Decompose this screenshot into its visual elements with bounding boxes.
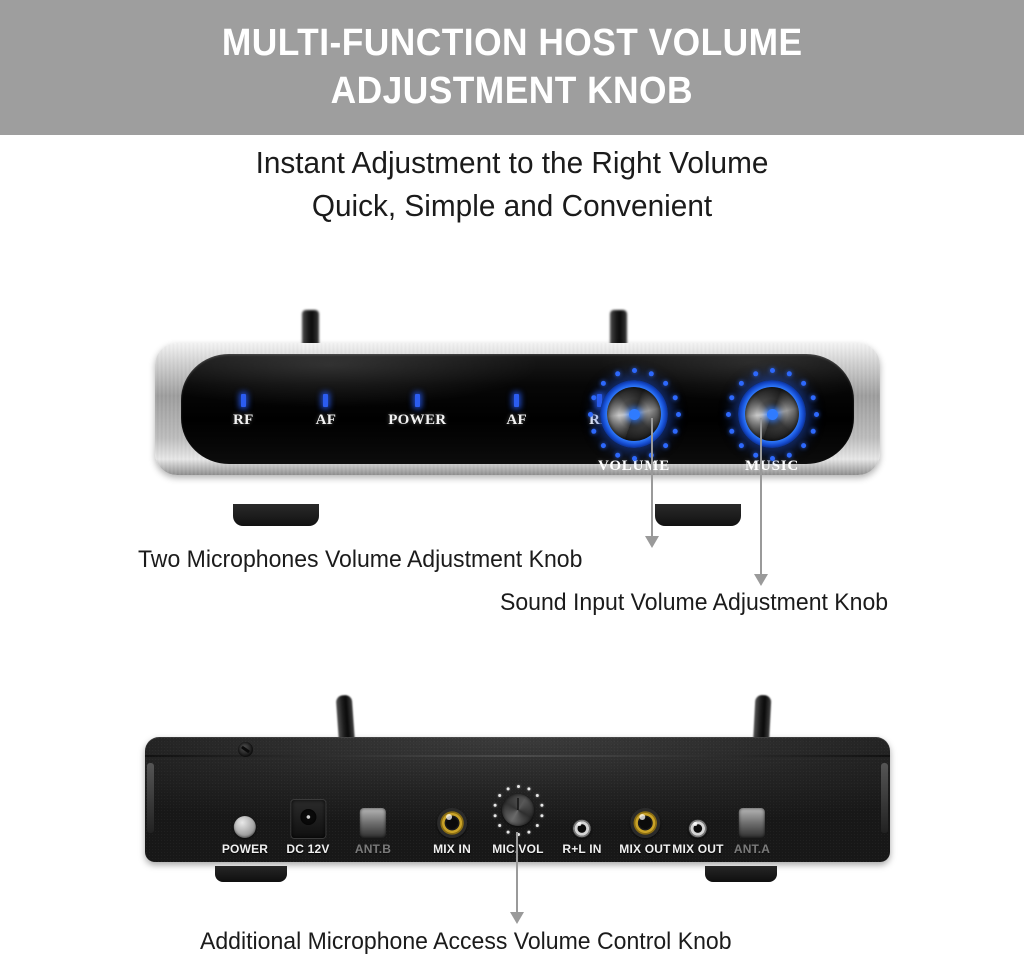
rear-port-label: ANT.B — [355, 842, 391, 856]
rear-foot-left — [215, 866, 287, 882]
rear-port-ant-b-2[interactable]: ANT.B — [355, 808, 391, 856]
callout-arrow-volume — [645, 536, 659, 548]
rear-foot-right — [705, 866, 777, 882]
rear-port-label: MIX IN — [433, 842, 471, 856]
rear-port-ant-a-8[interactable]: ANT.A — [734, 808, 770, 856]
rear-port-mix-in-3[interactable]: MIX IN — [433, 808, 471, 856]
knob-body — [502, 794, 534, 826]
callout-line-music — [760, 418, 762, 576]
mic-volume-knob-icon — [490, 782, 546, 838]
rear-port-power-0[interactable]: POWER — [222, 816, 268, 856]
led-indicator-af-3: AF — [506, 394, 527, 429]
led-indicator-rf-0: RF — [233, 394, 254, 429]
rear-port-label: POWER — [222, 842, 268, 856]
led-light-icon — [415, 394, 420, 407]
front-foot-right — [655, 504, 741, 526]
rear-port-mix-out-7[interactable]: MIX OUT — [672, 819, 723, 856]
callout-arrow-micvol — [510, 912, 524, 924]
knob-dot-ring-icon — [724, 366, 820, 462]
subtitle-line-1: Instant Adjustment to the Right Volume — [20, 142, 1003, 185]
header-banner: MULTI-FUNCTION HOST VOLUME ADJUSTMENT KN… — [0, 0, 1024, 135]
rear-port-label: DC 12V — [286, 842, 329, 856]
led-light-icon — [514, 394, 519, 407]
antenna-socket-icon — [739, 808, 765, 838]
led-indicator-power-2: POWER — [388, 394, 446, 429]
knob-volume[interactable]: VOLUME — [580, 366, 688, 475]
callout-line-volume — [651, 418, 653, 538]
audio-jack-silver-icon — [689, 819, 708, 838]
front-panel-device: RFAFPOWERAFRF VOLUMEMUSIC — [155, 305, 880, 510]
rear-port-mic-vol-4[interactable]: MIC.VOL — [490, 782, 546, 856]
led-label: RF — [233, 412, 254, 429]
banner-title-line-1: MULTI-FUNCTION HOST VOLUME — [222, 20, 803, 68]
knob-center-dot-icon — [767, 409, 778, 420]
audio-jack-gold-icon — [437, 808, 467, 838]
banner-title-line-2: ADJUSTMENT KNOB — [331, 68, 693, 116]
audio-jack-gold-icon — [630, 808, 660, 838]
callout-text-volume: Two Microphones Volume Adjustment Knob — [138, 546, 582, 574]
audio-jack-silver-icon — [572, 819, 591, 838]
knob-dot-ring-icon — [586, 366, 682, 462]
front-knob-group: VOLUMEMUSIC — [580, 366, 826, 475]
rear-port-label: R+L IN — [562, 842, 601, 856]
front-panel-face: RFAFPOWERAFRF VOLUMEMUSIC — [181, 354, 854, 464]
subtitle-block: Instant Adjustment to the Right Volume Q… — [0, 142, 1024, 228]
rear-port-mix-out-6[interactable]: MIX OUT — [619, 808, 670, 856]
rear-port-dc-12v-1[interactable]: DC 12V — [286, 800, 329, 856]
rear-port-r-l-in-5[interactable]: R+L IN — [562, 819, 601, 856]
callout-line-micvol — [516, 832, 518, 914]
led-label: AF — [316, 412, 337, 429]
led-label: AF — [506, 412, 527, 429]
subtitle-line-2: Quick, Simple and Convenient — [20, 185, 1003, 228]
led-indicator-group: RFAFPOWERAFRF — [233, 394, 610, 429]
antenna-socket-icon — [360, 808, 386, 838]
led-light-icon — [241, 394, 246, 407]
rear-port-label: ANT.A — [734, 842, 770, 856]
front-panel-frame: RFAFPOWERAFRF VOLUMEMUSIC — [155, 343, 880, 475]
led-indicator-af-1: AF — [316, 394, 337, 429]
callout-text-music: Sound Input Volume Adjustment Knob — [500, 589, 888, 617]
led-label: POWER — [388, 412, 446, 429]
power-button-icon — [234, 816, 256, 838]
rear-port-label: MIC.VOL — [492, 842, 543, 856]
knob-center-dot-icon — [629, 409, 640, 420]
front-foot-left — [233, 504, 319, 526]
rear-port-label: MIX OUT — [619, 842, 670, 856]
knob-music[interactable]: MUSIC — [718, 366, 826, 475]
rear-port-label: MIX OUT — [672, 842, 723, 856]
callout-arrow-music — [754, 574, 768, 586]
dc-power-jack-icon — [291, 800, 325, 838]
led-light-icon — [323, 394, 328, 407]
callout-text-micvol: Additional Microphone Access Volume Cont… — [200, 928, 732, 956]
